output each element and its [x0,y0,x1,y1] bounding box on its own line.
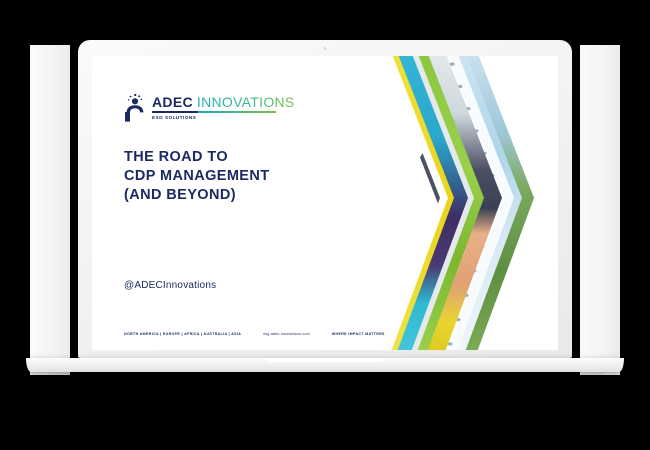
screenshot-stage: ADEC INNOVATIONS ESG SOLUTIONS THE ROAD … [0,0,650,450]
logo-underline-rule [152,111,276,113]
logo-text: ADEC INNOVATIONS ESG SOLUTIONS [152,92,295,120]
webcam-icon [324,47,327,50]
social-handle: @ADECInnovations [124,280,216,291]
slide-footer: NORTH AMERICA | EUROPE | AFRICA | AUSTRA… [124,332,385,336]
slide-headline: THE ROAD TO CDP MANAGEMENT (AND BEYOND) [124,148,270,205]
chevron-svg [362,56,558,350]
headline-line-1: THE ROAD TO [124,148,270,167]
logo-tagline: ESG SOLUTIONS [152,115,295,120]
footer-url: esg.adec-innovations.com [263,332,310,336]
laptop-frame: ADEC INNOVATIONS ESG SOLUTIONS THE ROAD … [78,40,572,358]
adec-person-icon [124,92,146,122]
presentation-slide: ADEC INNOVATIONS ESG SOLUTIONS THE ROAD … [92,56,558,350]
side-panel-left [30,45,70,375]
logo-brand-primary: ADEC [152,95,193,109]
laptop-hinge-notch [266,358,384,362]
adec-innovations-logo: ADEC INNOVATIONS ESG SOLUTIONS [124,92,295,122]
chevron-photo-artwork [362,56,558,350]
laptop-base [26,358,624,372]
headline-line-3: (AND BEYOND) [124,186,270,205]
footer-regions: NORTH AMERICA | EUROPE | AFRICA | AUSTRA… [124,332,241,336]
headline-line-2: CDP MANAGEMENT [124,167,270,186]
side-panel-right [580,45,620,375]
logo-brand-secondary: INNOVATIONS [197,95,295,109]
